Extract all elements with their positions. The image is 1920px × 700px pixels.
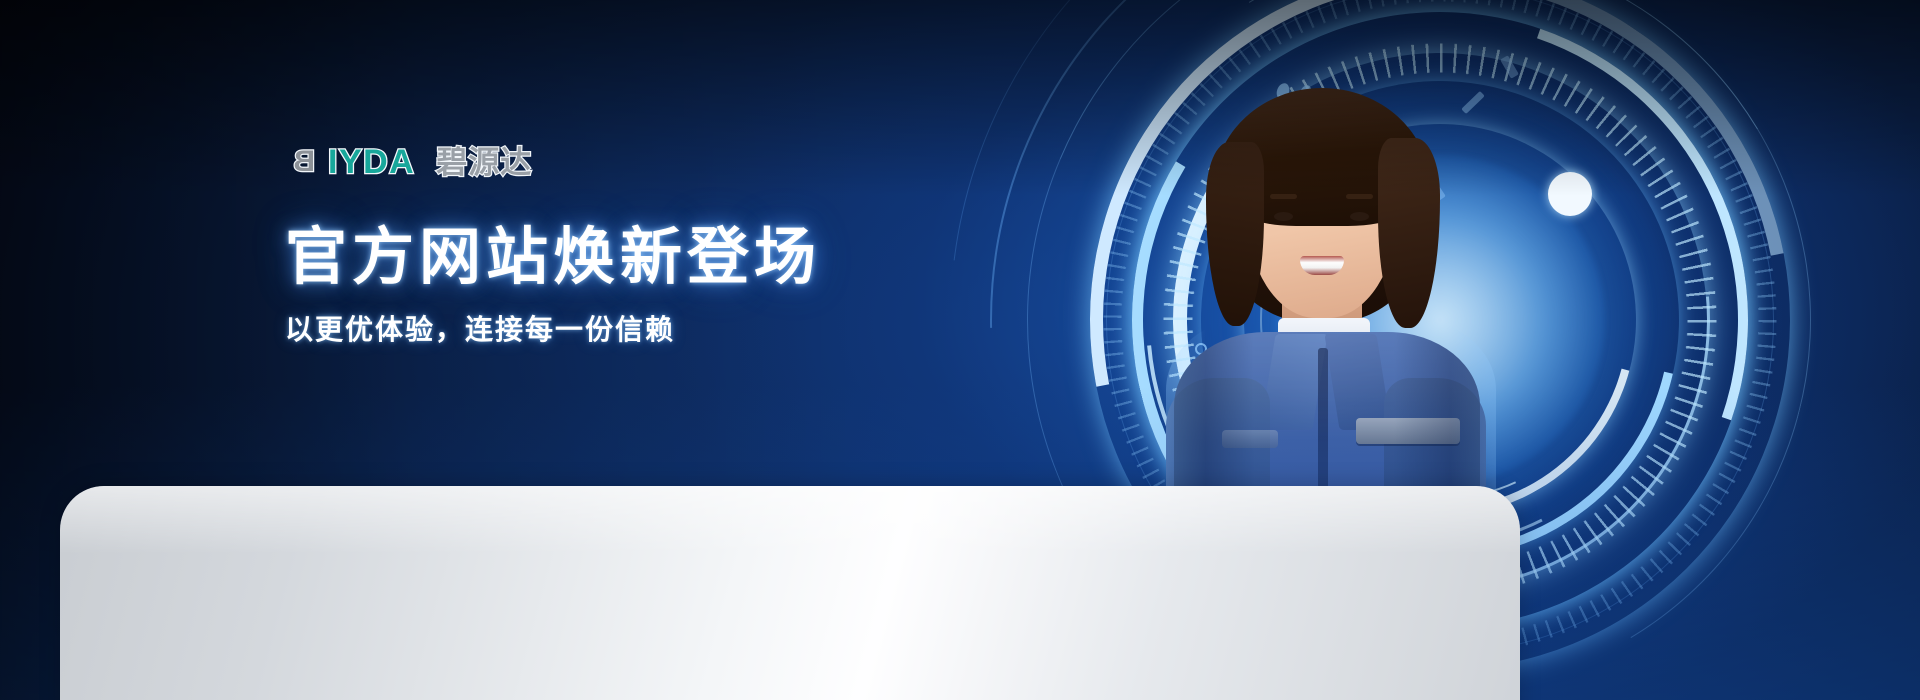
hero-banner: B IYDA 碧源达 官方网站焕新登场 以更优体验，连接每一份信赖 bbox=[0, 0, 1920, 700]
logo-mark-letter: B bbox=[285, 147, 315, 177]
logo-chinese-name: 碧源达 bbox=[436, 147, 532, 178]
person-eye-left bbox=[1274, 212, 1293, 221]
person-eye-right bbox=[1350, 212, 1369, 221]
bottom-panel bbox=[60, 486, 1520, 700]
brand-logo[interactable]: B IYDA 碧源达 bbox=[285, 140, 1045, 184]
person-eyebrow-left bbox=[1270, 194, 1297, 199]
hero-subheadline: 以更优体验，连接每一份信赖 bbox=[285, 312, 1045, 348]
person-hair-left bbox=[1206, 142, 1264, 326]
bottom-panel-sheen bbox=[60, 486, 1520, 700]
hero-headline: 官方网站焕新登场 bbox=[285, 226, 1045, 290]
person-mouth bbox=[1300, 256, 1344, 275]
person-hair-right bbox=[1378, 138, 1440, 328]
hud-node-large-1 bbox=[1548, 172, 1592, 216]
hero-content: B IYDA 碧源达 官方网站焕新登场 以更优体验，连接每一份信赖 bbox=[285, 140, 1045, 349]
logo-mark-icon: B bbox=[285, 147, 315, 177]
logo-wordmark: IYDA bbox=[328, 145, 415, 179]
person-eyebrow-right bbox=[1346, 194, 1373, 199]
